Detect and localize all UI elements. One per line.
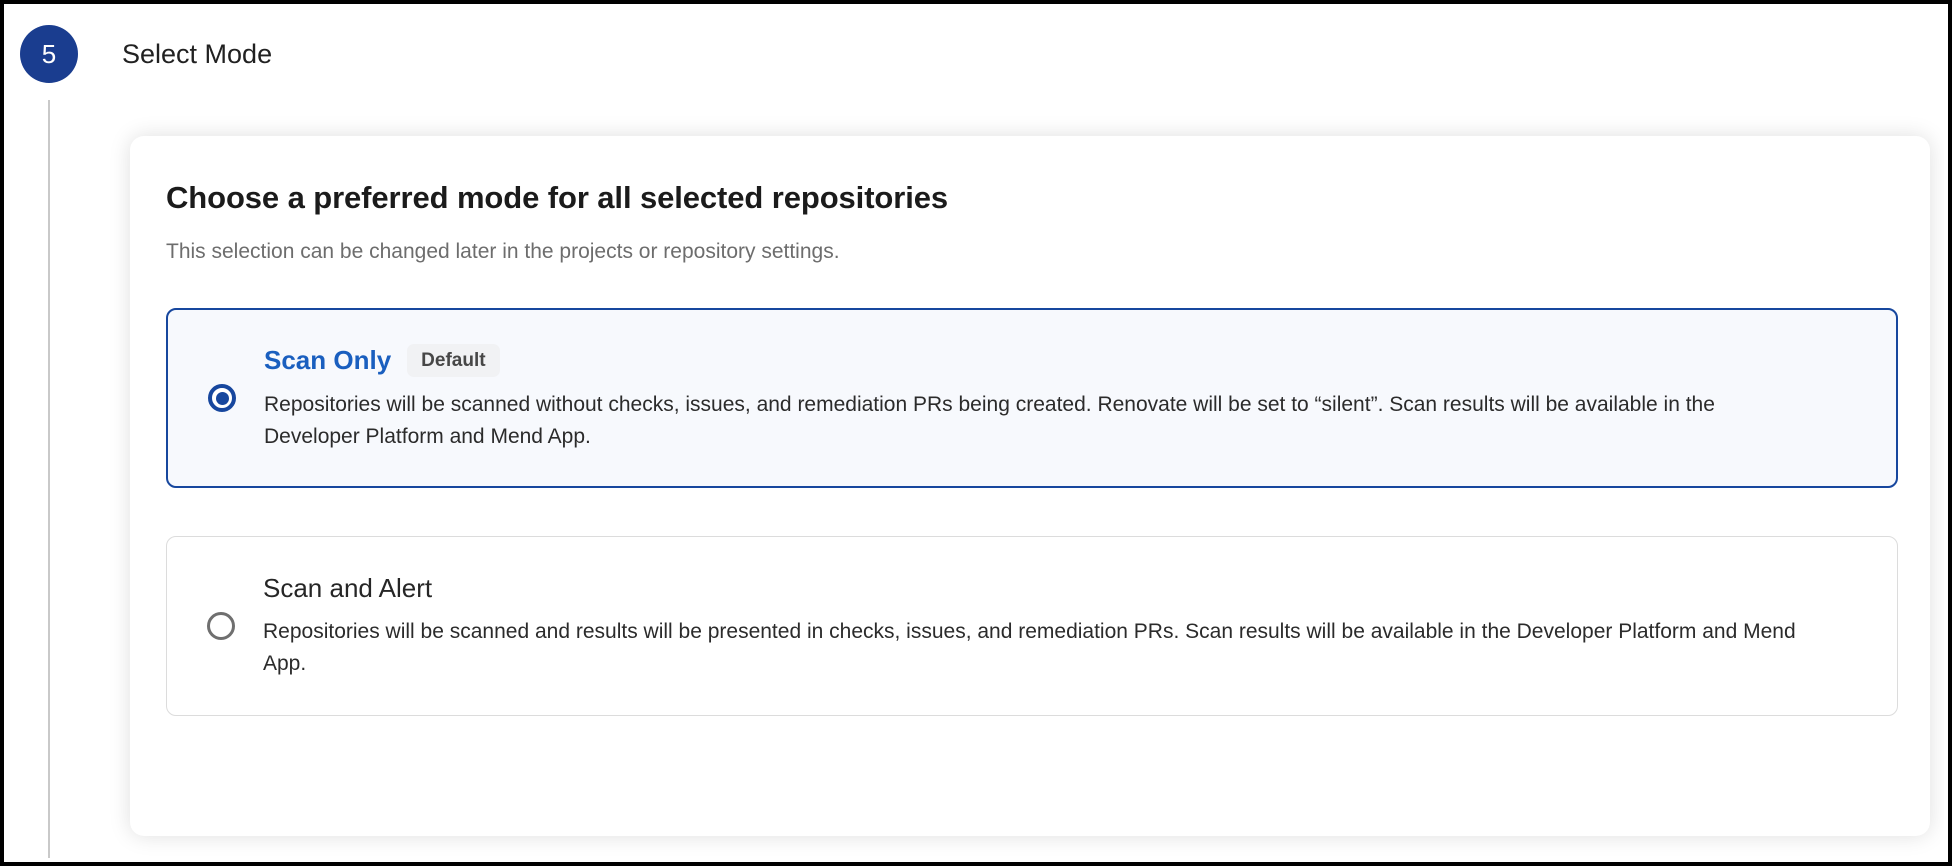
radio-wrap-scan-and-alert[interactable] — [201, 612, 241, 640]
option-title-scan-only: Scan Only — [264, 345, 391, 376]
status-badge-default: Default — [407, 344, 499, 377]
radio-wrap-scan-only[interactable] — [202, 384, 242, 412]
step-title: Select Mode — [122, 39, 272, 70]
option-body-scan-and-alert: Scan and Alert Repositories will be scan… — [263, 573, 1867, 680]
step-connector-line — [48, 100, 50, 858]
page-subtitle: This selection can be changed later in t… — [166, 240, 1898, 264]
step-header: 5 Select Mode — [8, 8, 272, 100]
option-description-scan-only: Repositories will be scanned without che… — [264, 389, 1804, 453]
step-number-badge: 5 — [20, 25, 78, 83]
option-card-scan-only[interactable]: Scan Only Default Repositories will be s… — [166, 308, 1898, 488]
wizard-step-panel: 5 Select Mode Choose a preferred mode fo… — [8, 8, 1944, 858]
page-title: Choose a preferred mode for all selected… — [166, 180, 1898, 216]
mode-selection-panel: Choose a preferred mode for all selected… — [130, 136, 1930, 836]
option-heading-row-scan-only: Scan Only Default — [264, 344, 1866, 377]
option-description-scan-and-alert: Repositories will be scanned and results… — [263, 616, 1803, 680]
option-heading-row-scan-and-alert: Scan and Alert — [263, 573, 1867, 604]
option-card-scan-and-alert[interactable]: Scan and Alert Repositories will be scan… — [166, 536, 1898, 716]
option-title-scan-and-alert: Scan and Alert — [263, 573, 432, 604]
radio-unselected-icon[interactable] — [207, 612, 235, 640]
radio-selected-icon[interactable] — [208, 384, 236, 412]
screenshot-frame: 5 Select Mode Choose a preferred mode fo… — [0, 0, 1952, 866]
option-body-scan-only: Scan Only Default Repositories will be s… — [264, 344, 1866, 453]
mode-options-list: Scan Only Default Repositories will be s… — [166, 308, 1898, 716]
